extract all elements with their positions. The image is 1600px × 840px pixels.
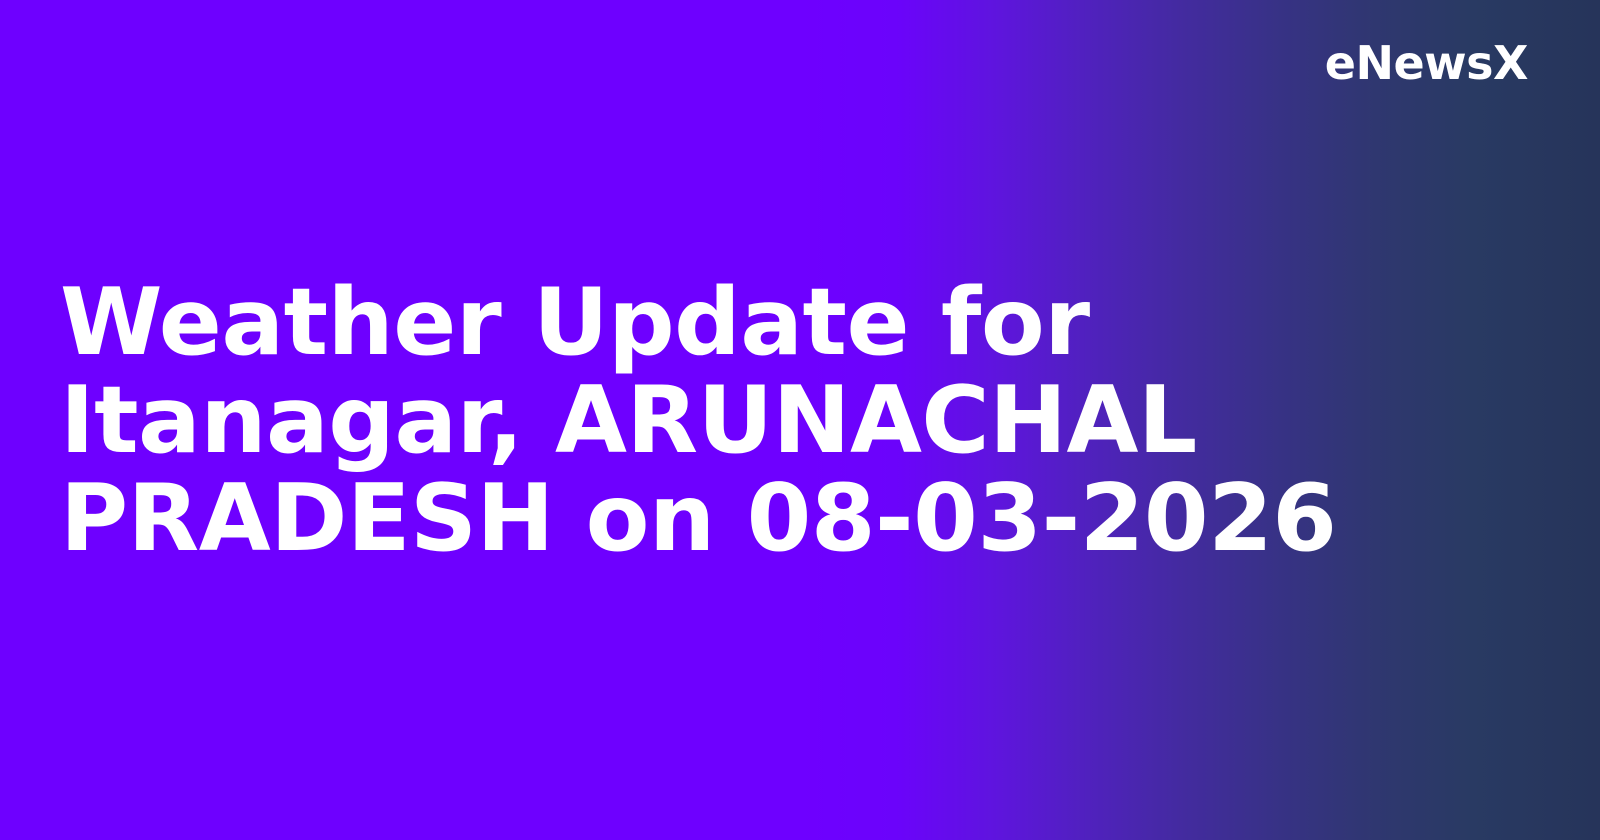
headline-block: Weather Update for Itanagar, ARUNACHAL P… [60, 0, 1480, 840]
page-title: Weather Update for Itanagar, ARUNACHAL P… [60, 273, 1470, 567]
news-banner-card: eNewsX Weather Update for Itanagar, ARUN… [0, 0, 1600, 840]
